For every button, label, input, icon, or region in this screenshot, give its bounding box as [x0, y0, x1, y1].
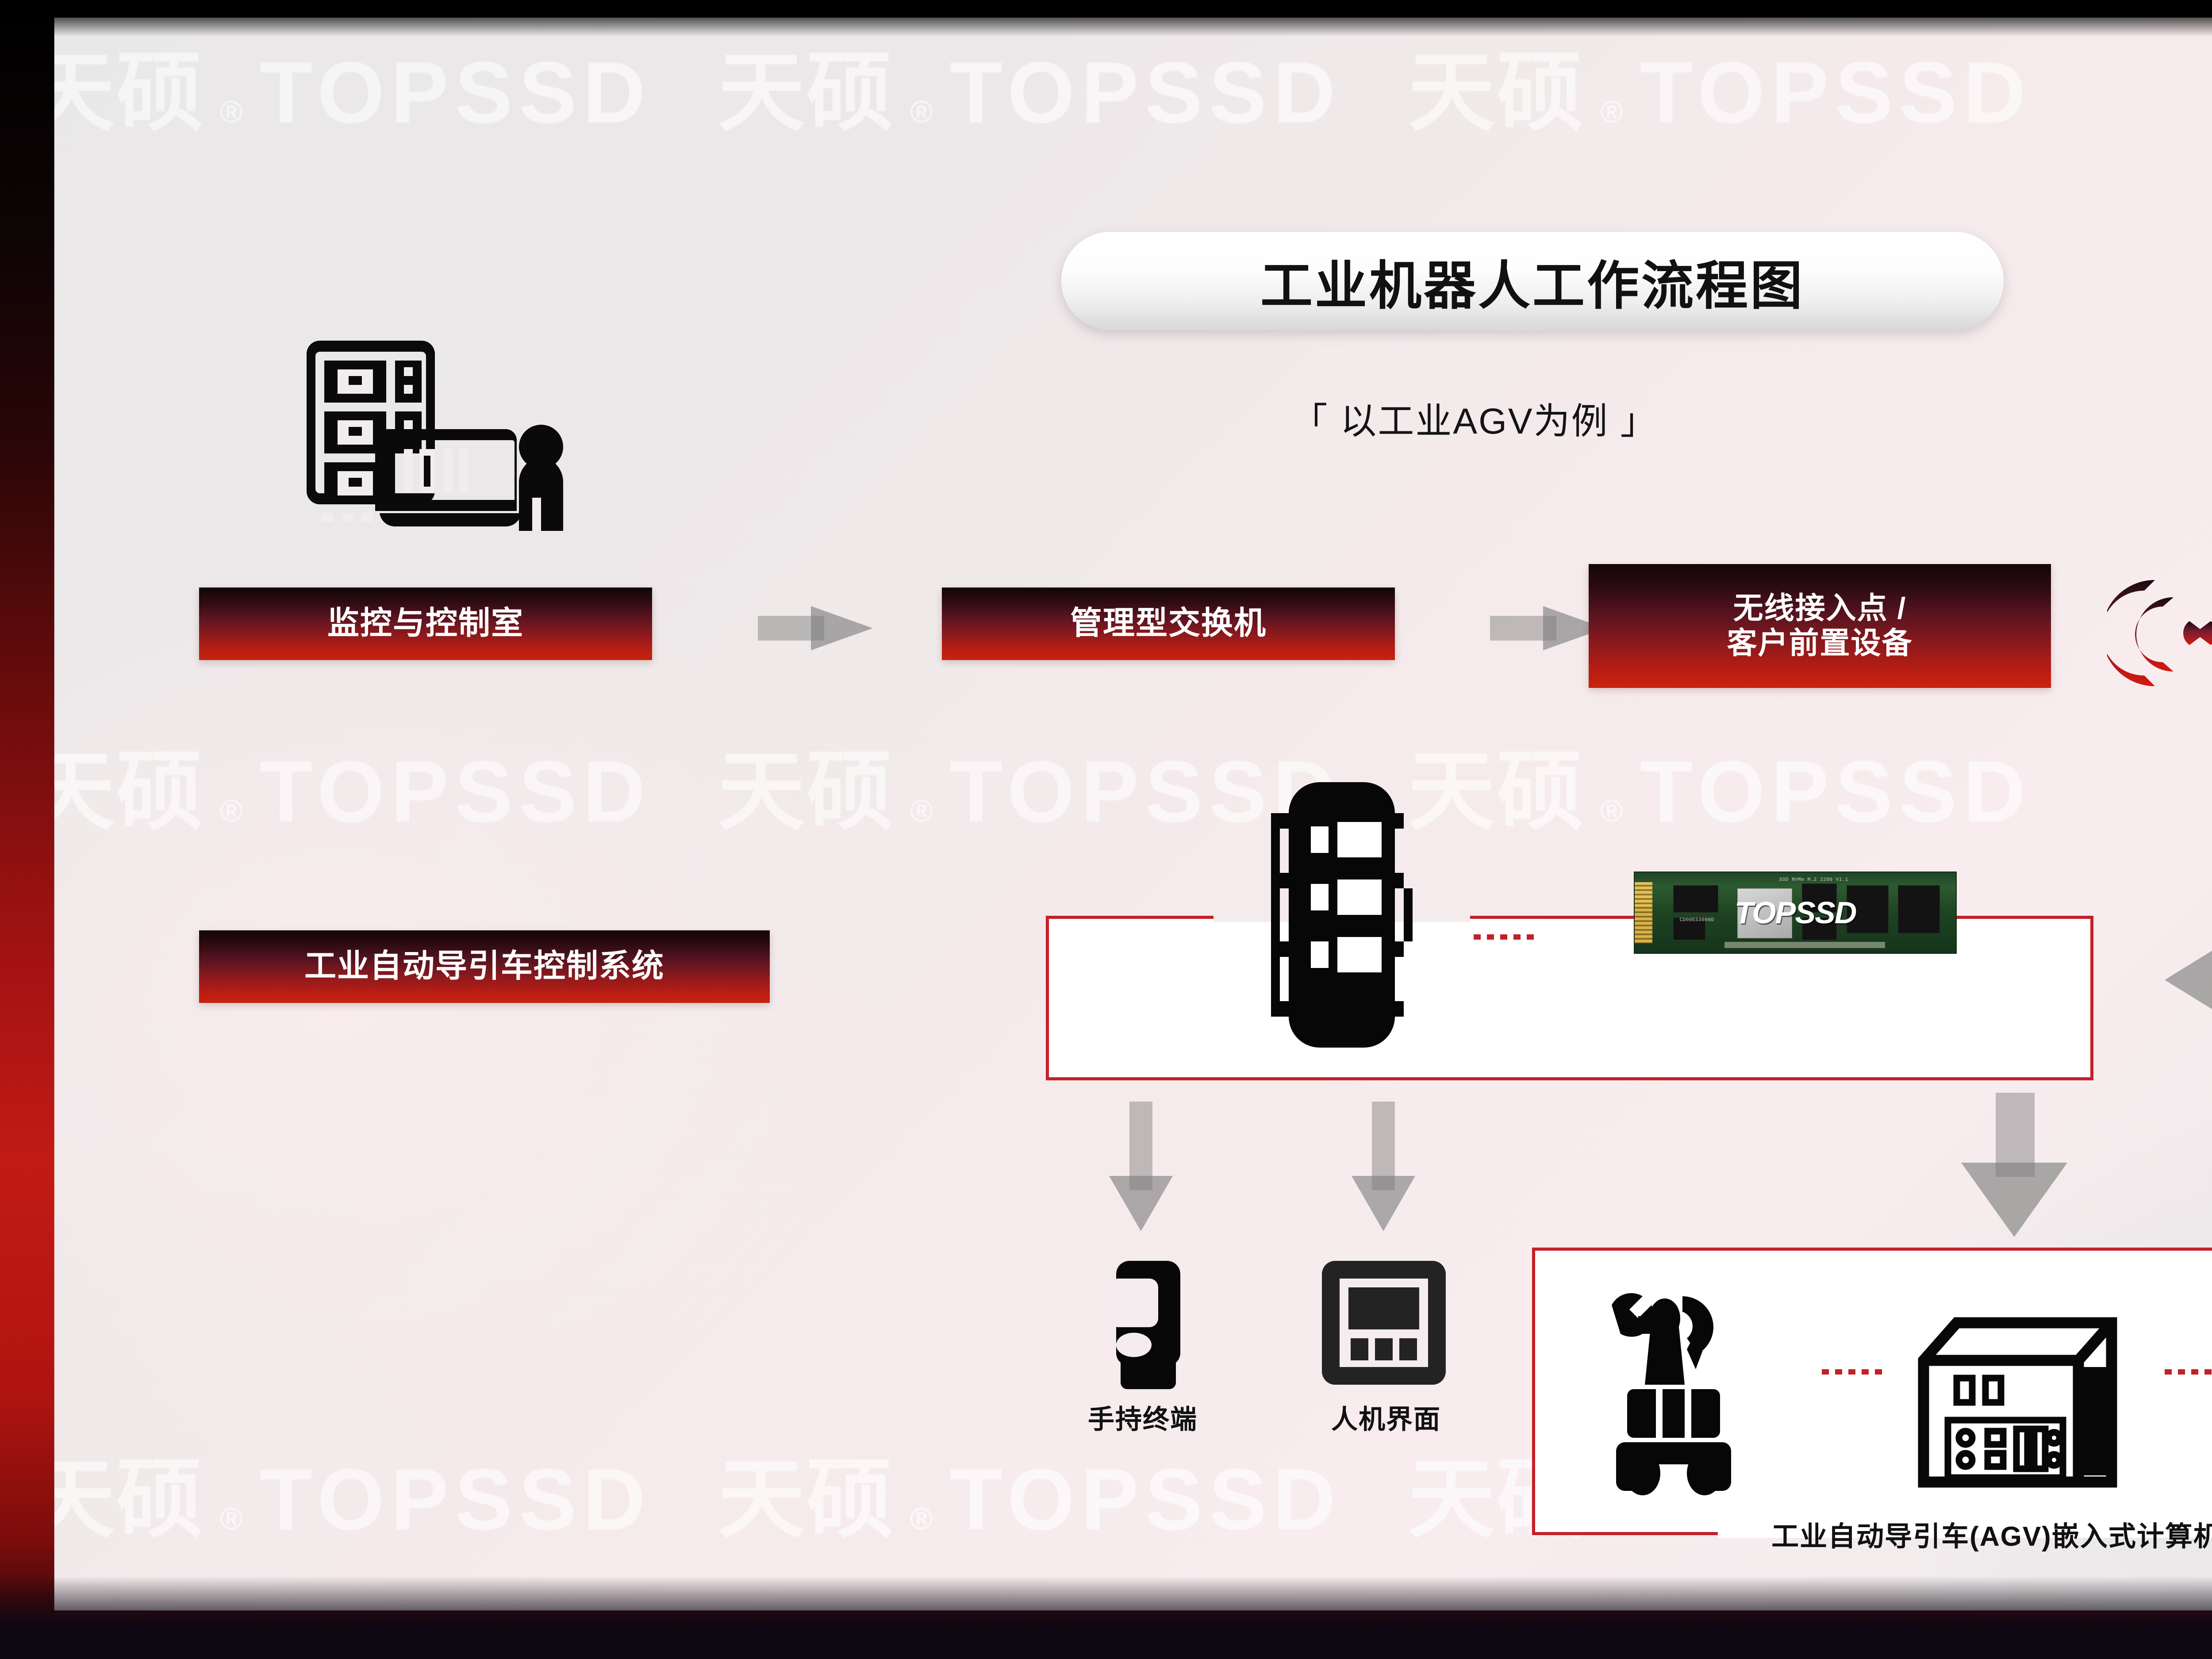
watermark-cn: 天硕	[718, 721, 895, 846]
watermark-cn: 天硕	[1408, 22, 1585, 147]
connector-dots-agv-right	[2165, 1369, 2212, 1375]
watermark-en: TOPSSD	[260, 1449, 652, 1549]
arrow-right-2	[1490, 606, 1605, 650]
watermark-reg: ®	[1600, 793, 1625, 828]
control-room-icon	[302, 327, 576, 531]
watermark-row: 天硕®TOPSSD 天硕®TOPSSD 天硕®TOPSSD	[54, 721, 2212, 846]
ssd-module-core: SSD NVMe M.2 2280 V1.1 CD00ES3000D TOPSS…	[1634, 872, 1957, 954]
box-wap-cpe-left-line1: 无线接入点 /	[1733, 591, 1907, 626]
handheld-terminal-label: 手持终端	[1019, 1398, 1267, 1436]
box-managed-switch-label: 管理型交换机	[1070, 605, 1267, 642]
watermark-en: TOPSSD	[1640, 741, 2032, 841]
wireless-signal-icon	[2107, 571, 2212, 695]
watermark-en: TOPSSD	[260, 741, 652, 841]
box-control-room-label: 监控与控制室	[327, 605, 524, 642]
arrow-down-handheld	[1104, 1102, 1175, 1230]
watermark-reg: ®	[910, 793, 935, 828]
watermark-cn: 天硕	[54, 22, 205, 147]
watermark-en: TOPSSD	[260, 42, 652, 142]
connector-dots-agv-left	[1822, 1369, 1884, 1375]
watermark-cn: 天硕	[718, 22, 895, 147]
box-agv-control-system[interactable]: 工业自动导引车控制系统	[199, 930, 770, 1003]
arrow-left-core	[2165, 933, 2212, 1026]
connector-dots-core	[1474, 934, 1540, 940]
box-control-room[interactable]: 监控与控制室	[199, 588, 652, 660]
hmi-icon	[1317, 1256, 1450, 1389]
watermark-reg: ®	[910, 1501, 935, 1536]
watermark-reg: ®	[220, 793, 245, 828]
page-title: 工业机器人工作流程图	[1260, 243, 1805, 319]
watermark-en: TOPSSD	[950, 42, 1342, 142]
handheld-terminal-icon	[1092, 1256, 1187, 1389]
agv-robot-icon	[1603, 1287, 1806, 1495]
watermark-en: TOPSSD	[1640, 42, 2032, 142]
watermark-cn: 天硕	[718, 1429, 895, 1554]
ssd-brand: TOPSSD	[1635, 872, 1956, 953]
agv-panel-label: 工业自动导引车(AGV)嵌入式计算机	[1532, 1514, 2212, 1554]
box-wap-cpe-left-line2: 客户前置设备	[1727, 626, 1912, 661]
hmi-label: 人机界面	[1262, 1398, 1510, 1436]
slide-card: 天硕®TOPSSD 天硕®TOPSSD 天硕®TOPSSD 天硕®TOPSSD …	[54, 18, 2212, 1610]
watermark-reg: ®	[910, 94, 935, 129]
watermark-row: 天硕®TOPSSD 天硕®TOPSSD 天硕®TOPSSD	[54, 22, 2212, 147]
box-agv-control-system-label: 工业自动导引车控制系统	[304, 948, 664, 985]
watermark-cn: 天硕	[54, 1429, 205, 1554]
embedded-computer-icon	[1908, 1310, 2129, 1491]
watermark-cn: 天硕	[54, 721, 205, 846]
watermark-reg: ®	[220, 1501, 245, 1536]
box-managed-switch[interactable]: 管理型交换机	[942, 588, 1395, 660]
watermark-reg: ®	[220, 94, 245, 129]
page-title-pill: 工业机器人工作流程图	[1061, 232, 2004, 330]
slide-frame: 天硕®TOPSSD 天硕®TOPSSD 天硕®TOPSSD 天硕®TOPSSD …	[0, 0, 2212, 1659]
server-tower-icon	[1214, 778, 1470, 1052]
watermark-en: TOPSSD	[950, 1449, 1342, 1549]
box-wap-cpe-left[interactable]: 无线接入点 / 客户前置设备	[1589, 564, 2051, 688]
watermark-reg: ®	[1600, 94, 1625, 129]
arrow-right-1	[758, 606, 873, 650]
arrow-down-agv	[1961, 1093, 2067, 1234]
arrow-down-hmi	[1346, 1102, 1417, 1230]
